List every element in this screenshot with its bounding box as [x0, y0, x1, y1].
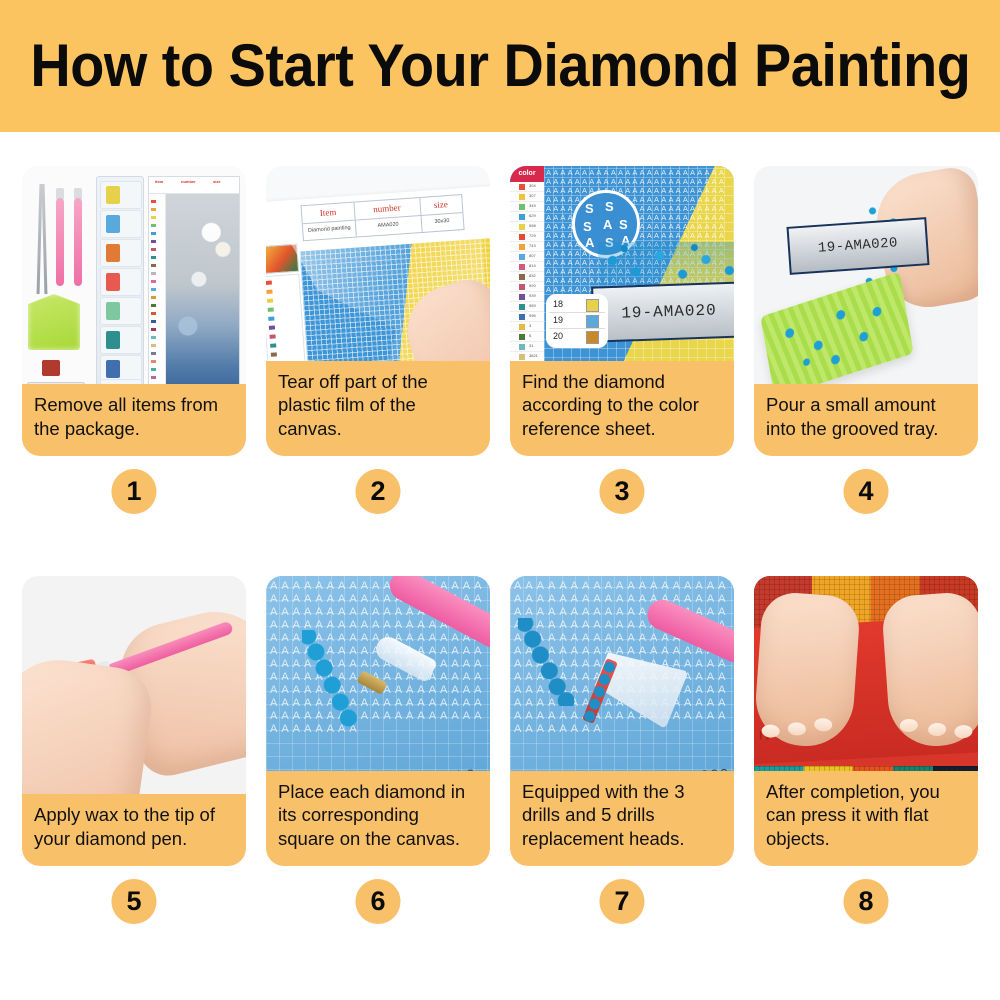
drill-bag-label: 19-AMA020	[786, 217, 929, 275]
diamond-pen-icon	[74, 198, 82, 286]
chart-title: color table	[510, 166, 544, 182]
steps-grid: item number size	[22, 166, 980, 978]
step-caption-7: Equipped with the 3 drills and 5 drills …	[510, 771, 734, 867]
step-photo-1: item number size	[22, 166, 246, 412]
label-col-item: item	[155, 179, 163, 184]
infographic-page: How to Start Your Diamond Painting	[0, 0, 1000, 1000]
label-val-number: AMA020	[355, 215, 423, 237]
step-card-8: WHAT IT AI After completion, you can pre…	[754, 576, 978, 924]
step-caption-1: Remove all items from the package.	[22, 384, 246, 456]
canvas-preview: item number size	[148, 176, 240, 408]
step-number-badge-2: 2	[356, 469, 401, 514]
drills-in-tray	[760, 272, 913, 399]
step-number-badge-3: 3	[600, 469, 645, 514]
loose-drills	[598, 242, 734, 288]
step-card-4: 19-AMA020 Pour a small amount into the g…	[754, 166, 978, 514]
zoom-callout-rows: 18 19 20	[546, 294, 608, 348]
step-caption-6: Place each diamond in its corresponding …	[266, 771, 490, 867]
step-number-badge-6: 6	[356, 879, 401, 924]
label-col-number: number	[181, 179, 196, 184]
diamond-pen-icon	[56, 198, 64, 286]
placed-drills-row	[302, 630, 360, 730]
hand-left	[754, 591, 861, 749]
step-caption-8: After completion, you can press it with …	[754, 771, 978, 867]
step-caption-2: Tear off part of the plastic film of the…	[266, 361, 490, 457]
step-caption-5: Apply wax to the tip of your diamond pen…	[22, 794, 246, 866]
label-val-size: 30x30	[420, 212, 463, 232]
placed-drills-row	[518, 618, 574, 706]
drill-bag-label: 19-AMA020	[591, 281, 734, 342]
canvas-label-row: item number size	[149, 177, 239, 194]
wax-block-icon	[42, 360, 60, 376]
step-card-6: AAAAAAAAAAAAAAAAAAAAAAAAAAAAAAAAAAAAAAAA…	[266, 576, 490, 924]
step-photo-4: 19-AMA020	[754, 166, 978, 412]
step-photo-5	[22, 576, 246, 822]
canvas-color-chart	[149, 194, 166, 407]
step-caption-4: Pour a small amount into the grooved tra…	[754, 384, 978, 456]
step-card-7: AAAAAAAAAAAAAAAAAAAAAAAAAAAAAAAAAAAAAAAA…	[510, 576, 734, 924]
zoom-row-18: 18	[549, 297, 605, 313]
step-card-2: Item number size Diamond painting AMA020…	[266, 166, 490, 514]
page-title: How to Start Your Diamond Painting	[30, 35, 970, 97]
step-caption-3: Find the diamond according to the color …	[510, 361, 734, 457]
step-number-badge-7: 7	[600, 879, 645, 924]
zoom-row-19: 19	[549, 313, 605, 329]
step-card-5: Apply wax to the tip of your diamond pen…	[22, 576, 246, 924]
step-number-badge-4: 4	[844, 469, 889, 514]
tweezers-icon	[42, 184, 48, 294]
step-card-1: item number size	[22, 166, 246, 514]
zoom-row-20: 20	[549, 329, 605, 344]
grooved-tray-icon	[28, 294, 80, 350]
step-number-badge-8: 8	[844, 879, 889, 924]
step-card-3: AAAAAAAAAAAAAAAAAAAAAAAAAAAAAAAAAAAAAAAA…	[510, 166, 734, 514]
header-band: How to Start Your Diamond Painting	[0, 0, 1000, 132]
kit-tools	[32, 180, 90, 398]
label-col-size: size	[213, 179, 221, 184]
label-val-item: Diamond painting	[303, 220, 357, 241]
step-number-badge-5: 5	[112, 879, 157, 924]
canvas-artwork-flowers	[166, 194, 239, 407]
step-number-badge-1: 1	[112, 469, 157, 514]
drill-packets-strip	[96, 176, 144, 408]
